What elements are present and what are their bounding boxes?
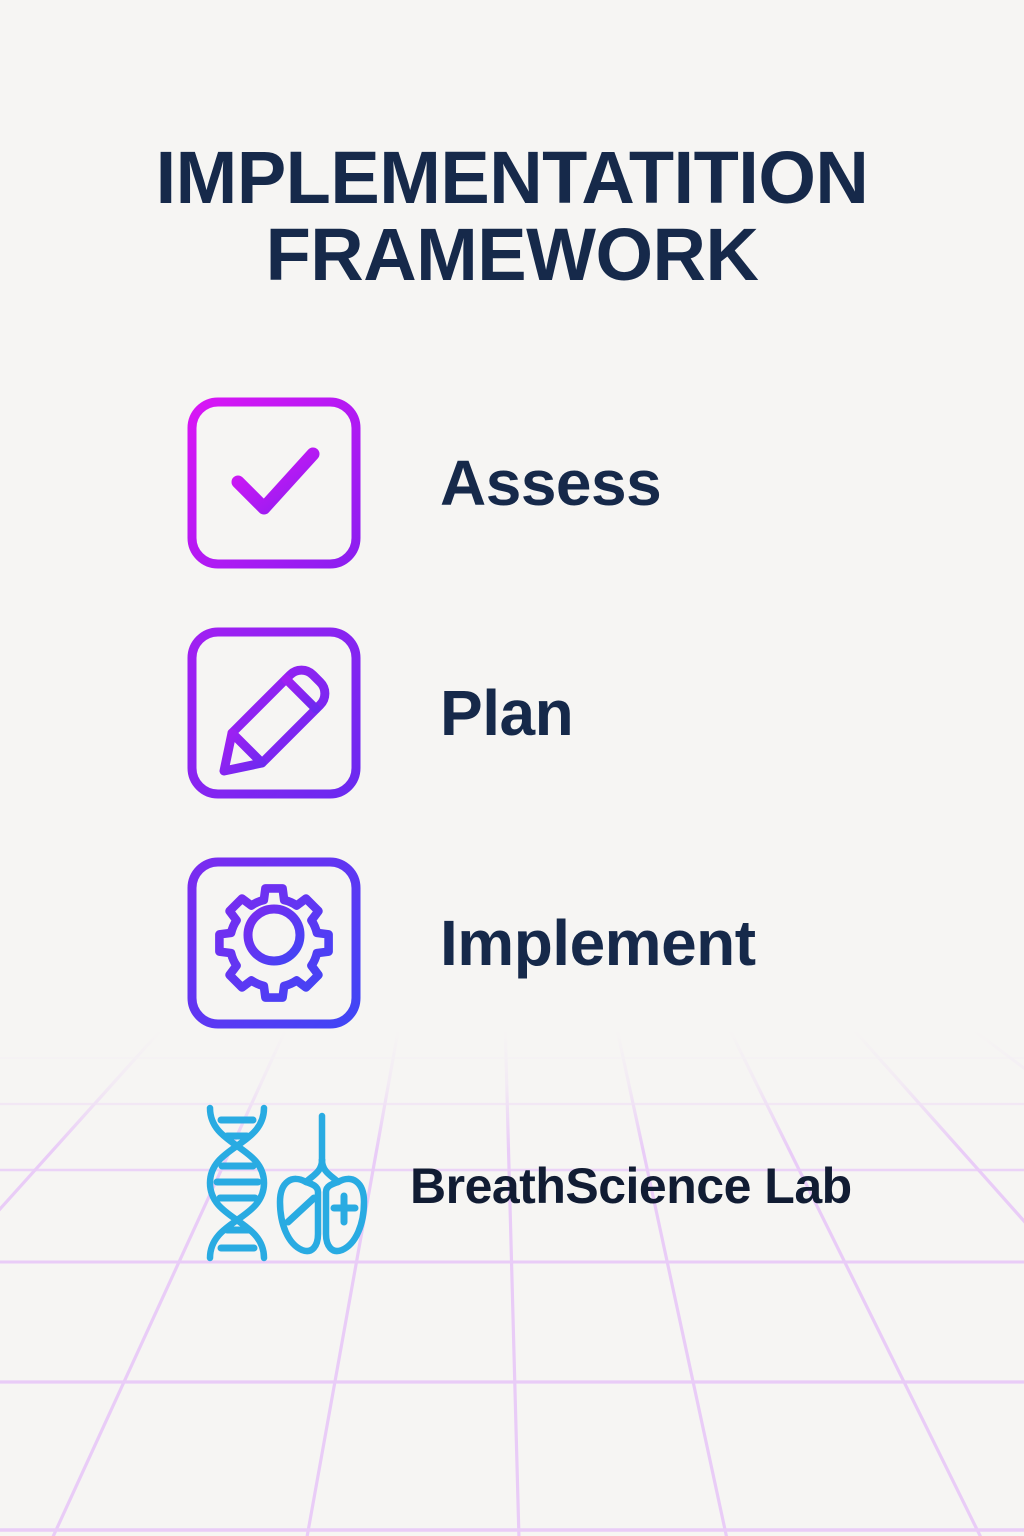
poster-canvas: IMPLEMENTATITION FRAMEWORK [0, 0, 1024, 1536]
pencil-icon [186, 626, 362, 800]
page-title: IMPLEMENTATITION FRAMEWORK [0, 140, 1024, 294]
step-item-assess[interactable]: Assess [186, 396, 946, 570]
step-label-plan: Plan [440, 681, 573, 745]
step-item-plan[interactable]: Plan [186, 626, 946, 800]
brand-lockup[interactable]: BreathScience Lab [192, 1098, 852, 1273]
title-line-1: IMPLEMENTATITION [0, 140, 1024, 217]
framework-steps-list: Assess [186, 396, 946, 1030]
brand-mark [192, 1098, 392, 1273]
step-label-implement: Implement [440, 911, 756, 975]
check-icon [186, 396, 362, 570]
title-line-2: FRAMEWORK [0, 217, 1024, 294]
gear-icon [186, 856, 362, 1030]
dna-helix-icon [210, 1108, 264, 1258]
step-item-implement[interactable]: Implement [186, 856, 946, 1030]
step-label-assess: Assess [440, 451, 661, 515]
lungs-icon [280, 1116, 364, 1251]
brand-name: BreathScience Lab [410, 1157, 852, 1215]
